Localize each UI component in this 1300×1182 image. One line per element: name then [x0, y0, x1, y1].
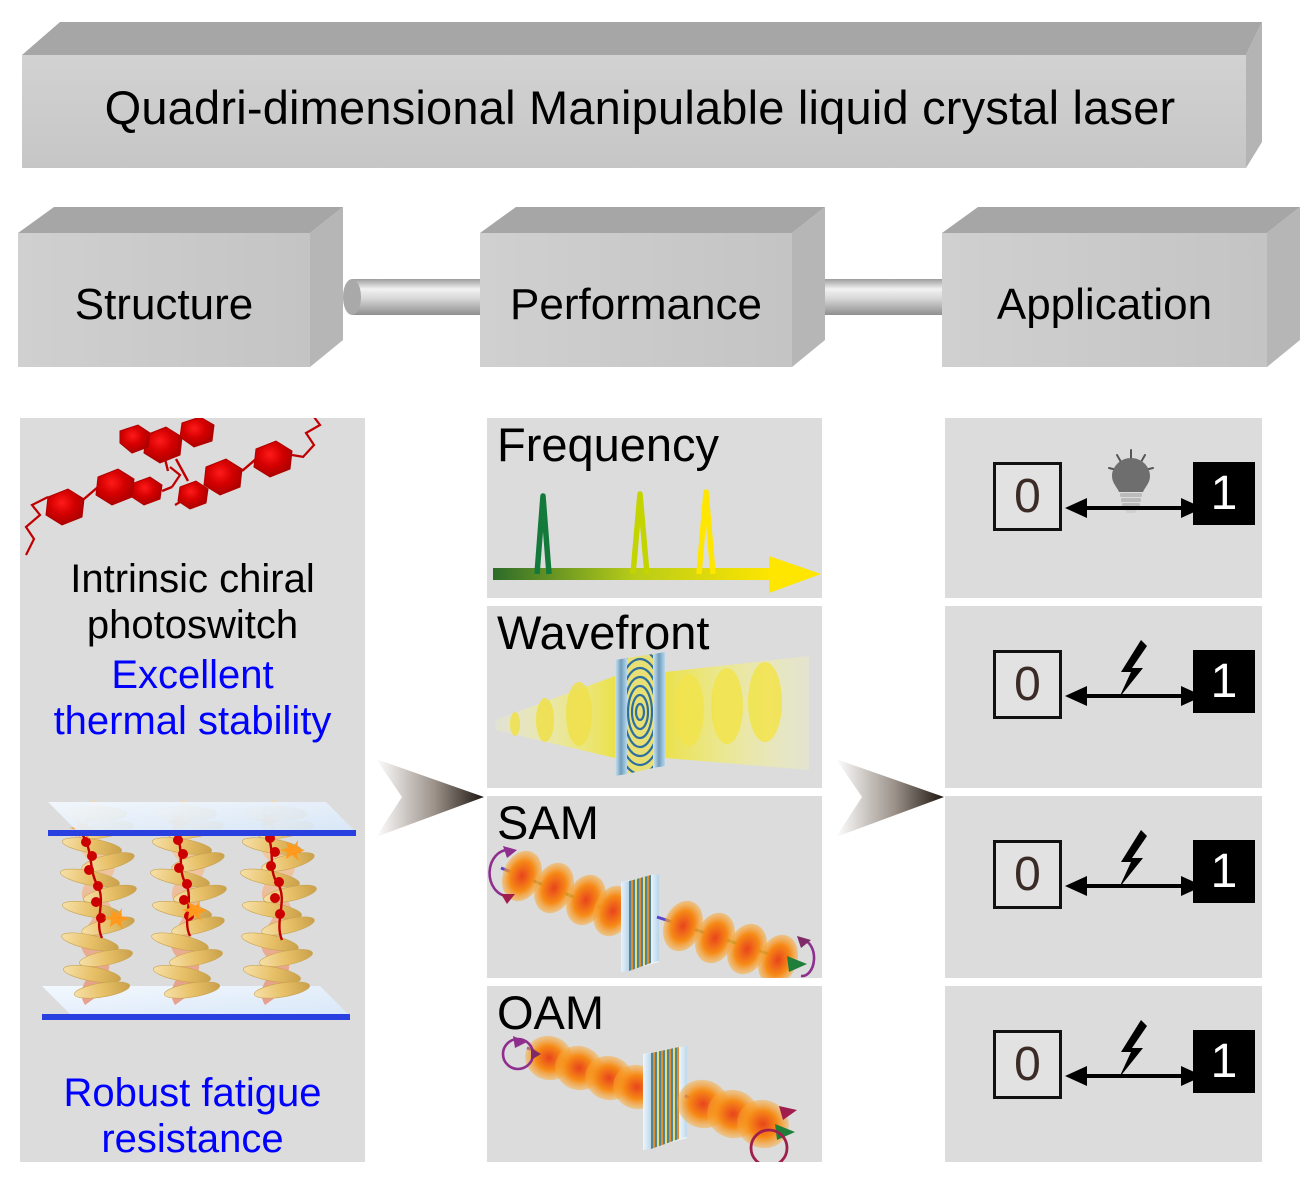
lightning-bolt-icon [1119, 830, 1147, 888]
cholesteric-liquid-crystal-cell-icon [32, 790, 362, 1060]
state-on-box-2[interactable]: 1 [1193, 650, 1255, 713]
performance-panel-frequency: Frequency [487, 418, 822, 598]
state-off-box-3[interactable]: 0 [993, 840, 1062, 909]
double-headed-arrow-2 [1065, 686, 1203, 706]
wavefront-beam-icon [487, 648, 822, 788]
state-on-box-1[interactable]: 1 [1193, 462, 1255, 525]
flow-arrow-1 [372, 745, 487, 850]
application-panel-4: 0 1 [945, 986, 1262, 1162]
performance-panel-sam: SAM [487, 796, 822, 978]
page-title: Quadri-dimensional Manipulable liquid cr… [40, 62, 1240, 152]
title-box-top-face [22, 22, 1262, 55]
performance-panel-oam: OAM [487, 986, 822, 1162]
state-on-box-4[interactable]: 1 [1193, 1030, 1255, 1093]
chiral-photoswitch-molecule-icon [20, 418, 365, 565]
performance-label-sam: SAM [497, 798, 599, 847]
state-off-box-1[interactable]: 0 [993, 462, 1062, 531]
state-off-box-4[interactable]: 0 [993, 1030, 1062, 1099]
toggle-arrow-group-3 [1063, 826, 1203, 904]
lightning-bolt-icon [1119, 1020, 1147, 1078]
performance-label-frequency: Frequency [497, 420, 719, 469]
structure-caption-2: Excellent [20, 654, 365, 697]
toggle-arrow-group-4 [1063, 1016, 1203, 1094]
title-banner: Quadri-dimensional Manipulable liquid cr… [0, 0, 1300, 190]
state-on-box-3[interactable]: 1 [1193, 840, 1255, 903]
frequency-spectrum-icon [491, 476, 821, 596]
toggle-arrow-group-2 [1063, 636, 1203, 714]
performance-label-oam: OAM [497, 988, 604, 1037]
double-headed-arrow-3 [1065, 876, 1203, 896]
connector-structure-performance [343, 279, 492, 315]
structure-caption-5: resistance [20, 1118, 365, 1161]
structure-caption-0: Intrinsic chiral [20, 558, 365, 601]
toggle-arrow-group-1 [1063, 448, 1203, 526]
structure-caption-3: thermal stability [20, 700, 365, 743]
application-panel-1: 0 1 [945, 418, 1262, 598]
sam-beam-icon [487, 844, 822, 978]
lightning-bolt-icon [1119, 640, 1147, 698]
structure-caption-1: photoswitch [20, 604, 365, 647]
oam-beam-icon [487, 1032, 822, 1162]
flow-arrow-2 [832, 745, 947, 850]
double-headed-arrow-4 [1065, 1066, 1203, 1086]
structure-panel: Intrinsic chiral photoswitch Excellent t… [20, 418, 365, 1162]
stage-label-application[interactable]: Application [942, 260, 1267, 350]
stage-label-structure[interactable]: Structure [18, 260, 310, 350]
stage-label-performance[interactable]: Performance [480, 260, 792, 350]
structure-caption-4: Robust fatigue [20, 1072, 365, 1115]
state-off-box-2[interactable]: 0 [993, 650, 1062, 719]
application-panel-2: 0 1 [945, 606, 1262, 788]
application-panel-3: 0 1 [945, 796, 1262, 978]
light-bulb-icon [1109, 450, 1153, 513]
performance-panel-wavefront: Wavefront [487, 606, 822, 788]
